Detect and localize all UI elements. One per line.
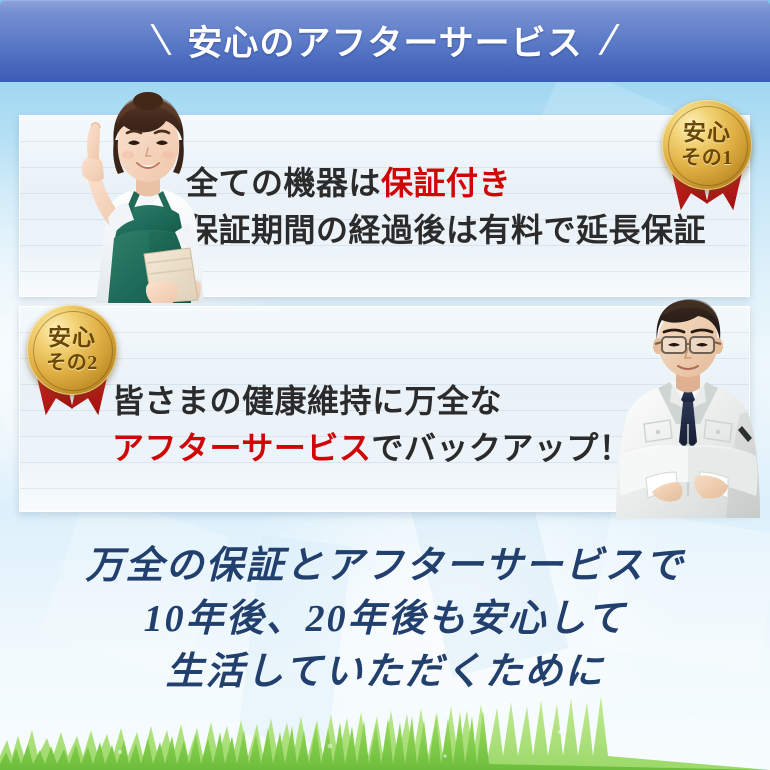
medal-2-top-label: 安心: [48, 325, 96, 350]
panel-2-text: 皆さまの健康維持に万全な アフターサービスでバックアップ！: [112, 378, 631, 472]
slash-left-icon: \: [149, 20, 174, 62]
medal-disc-1: 安心 その1: [662, 100, 752, 190]
panel-2-line-2-emphasis: アフターサービス: [112, 430, 371, 466]
medal-2-bottom-label: その2: [46, 352, 98, 375]
panel-1-line-1-emphasis: 保証付き: [381, 165, 511, 201]
panel-1-text: 全ての機器は保証付き 保証期間の経過後は有料で延長保証: [186, 160, 706, 254]
panel-1-line-2: 保証期間の経過後は有料で延長保証: [186, 207, 706, 254]
header-title: 安心のアフターサービス: [187, 15, 582, 66]
panel-2-line-1: 皆さまの健康維持に万全な: [112, 378, 631, 425]
header-bar: \ 安心のアフターサービス /: [0, 0, 770, 82]
photo-woman-green-apron: [48, 88, 248, 303]
medal-badge-2: 安心 その2: [24, 305, 120, 417]
slash-right-icon: /: [596, 20, 621, 62]
photo-man-white-jacket: [600, 296, 770, 518]
panel-1-line-2-plain: 保証期間の経過後は有料で延長保証: [186, 212, 706, 248]
grass-foreground: [0, 660, 770, 770]
tagline-line-2: 10年後、20年後も安心して: [0, 593, 770, 646]
panel-2-line-2-plain: でバックアップ！: [371, 430, 631, 466]
panel-1-line-1: 全ての機器は保証付き: [186, 160, 706, 207]
medal-1-top-label: 安心: [683, 120, 731, 145]
medal-disc-2: 安心 その2: [27, 305, 117, 395]
medal-badge-1: 安心 その1: [659, 100, 755, 212]
panel-2-line-1-plain: 皆さまの健康維持に万全な: [112, 383, 502, 419]
panel-2-line-2: アフターサービスでバックアップ！: [112, 425, 631, 472]
medal-1-bottom-label: その1: [681, 147, 733, 170]
banner-canvas: \ 安心のアフターサービス /: [0, 0, 770, 770]
tagline-line-1: 万全の保証とアフターサービスで: [0, 540, 770, 593]
